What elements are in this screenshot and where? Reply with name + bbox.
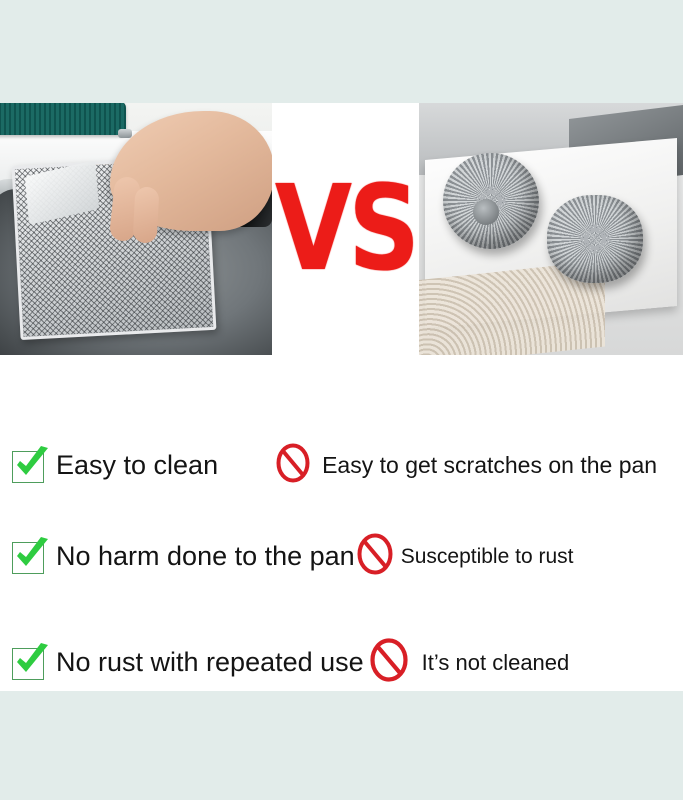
red-prohibition-icon <box>370 638 408 687</box>
con-item: Susceptible to rust <box>357 533 574 580</box>
green-check-icon <box>10 538 48 576</box>
feature-row: No harm done to the pan Susceptible to r… <box>0 533 683 580</box>
pro-item: No rust with repeated use <box>10 644 364 682</box>
teal-ribbed-tray <box>0 103 126 135</box>
red-prohibition-icon <box>357 533 393 580</box>
con-text: It’s not cleaned <box>422 650 570 676</box>
cloth-fold <box>25 160 99 224</box>
con-item: It’s not cleaned <box>370 638 570 687</box>
infographic-canvas: VS Ours Others Easy to clean <box>0 0 683 800</box>
product-photo-others <box>419 103 683 355</box>
vs-label: VS <box>275 170 416 288</box>
feature-row: No rust with repeated use It’s not clean… <box>0 638 683 687</box>
green-check-icon <box>10 644 48 682</box>
feature-list: Easy to clean Easy to get scratches on t… <box>0 355 683 691</box>
steel-scourer-ball <box>547 195 643 283</box>
product-photo-ours <box>0 103 272 355</box>
sink-scene <box>0 103 272 355</box>
finger <box>133 186 160 243</box>
pro-text: No harm done to the pan <box>56 541 355 572</box>
green-check-icon <box>10 447 48 485</box>
pro-item: Easy to clean <box>10 447 218 485</box>
tray-scene <box>419 103 683 355</box>
scourer-core <box>473 199 499 225</box>
tray-clip <box>118 129 132 138</box>
con-text: Susceptible to rust <box>401 545 574 569</box>
pro-text: Easy to clean <box>56 450 218 481</box>
red-prohibition-icon <box>276 443 310 488</box>
vs-divider: VS <box>272 103 419 355</box>
steel-scourer-ball <box>443 153 539 249</box>
con-item: Easy to get scratches on the pan <box>276 443 657 488</box>
con-text: Easy to get scratches on the pan <box>322 452 657 479</box>
pro-item: No harm done to the pan <box>10 538 355 576</box>
pro-text: No rust with repeated use <box>56 647 364 678</box>
feature-row: Easy to clean Easy to get scratches on t… <box>0 443 683 488</box>
